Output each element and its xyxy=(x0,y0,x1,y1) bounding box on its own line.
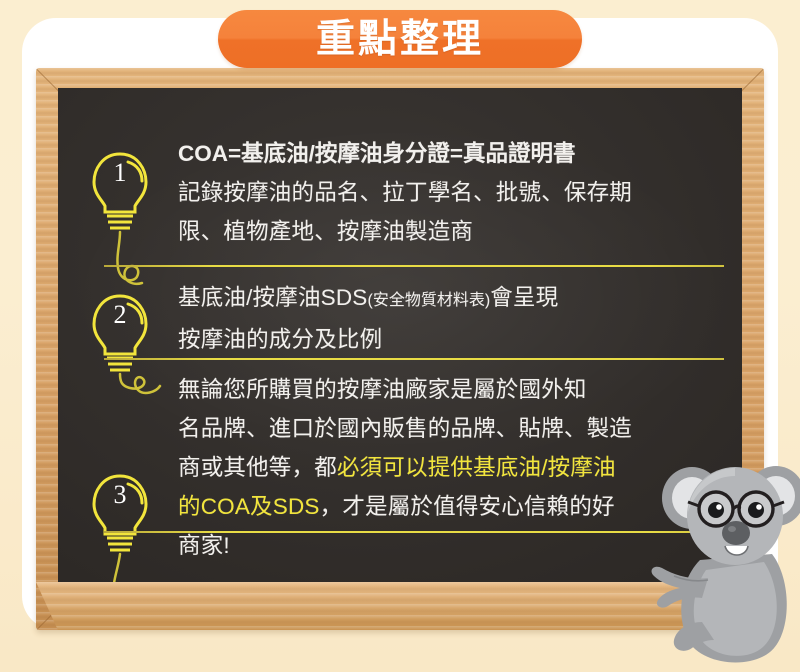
section-divider-1 xyxy=(104,265,724,267)
section-number-3: 3 xyxy=(92,480,148,510)
text-part: 限、植物產地、按摩油製造商 xyxy=(178,219,473,244)
section-2-line-1: 基底油/按摩油SDS(安全物質材料表)會呈現 xyxy=(178,278,723,320)
section-number-2: 2 xyxy=(92,300,148,330)
text-part: 商家! xyxy=(178,533,230,558)
text-part-highlighted: 的COA及SDS xyxy=(178,494,320,519)
section-1-line-2: 記錄按摩油的品名、拉丁學名、批號、保存期 xyxy=(178,173,723,212)
infographic-canvas: 重點整理 1 xyxy=(0,0,800,672)
text-part: 按摩油的成分及比例 xyxy=(178,327,382,352)
section-1-text: COA=基底油/按摩油身分證=真品證明書記錄按摩油的品名、拉丁學名、批號、保存期… xyxy=(178,134,723,251)
text-part: 會呈現 xyxy=(490,285,558,310)
title-banner: 重點整理 xyxy=(218,10,582,68)
section-2-line-2: 按摩油的成分及比例 xyxy=(178,320,723,359)
text-part: ，才是屬於值得安心信賴的好 xyxy=(320,494,615,519)
section-1-line-3: 限、植物產地、按摩油製造商 xyxy=(178,212,723,251)
text-part: 無論您所購買的按摩油廠家是屬於國外知 xyxy=(178,377,587,402)
text-part: 記錄按摩油的品名、拉丁學名、批號、保存期 xyxy=(178,180,632,205)
section-number-1: 1 xyxy=(92,158,148,188)
text-part: 基底油/按摩油SDS xyxy=(178,285,368,310)
text-part: 名品牌、進口於國內販售的品牌、貼牌、製造 xyxy=(178,416,632,441)
text-part: 商或其他等，都 xyxy=(178,455,337,480)
section-divider-2 xyxy=(104,358,724,360)
text-part: (安全物質材料表) xyxy=(368,292,491,309)
text-part: COA=基底油/按摩油身分證=真品證明書 xyxy=(178,141,576,166)
lightbulb-icon-3: 3 xyxy=(92,466,178,588)
section-1-line-1: COA=基底油/按摩油身分證=真品證明書 xyxy=(178,134,723,173)
lightbulb-icon-2: 2 xyxy=(92,286,178,436)
lightbulb-icon-1: 1 xyxy=(92,144,178,294)
section-2-text: 基底油/按摩油SDS(安全物質材料表)會呈現按摩油的成分及比例 xyxy=(178,278,723,359)
section-divider-3 xyxy=(104,531,724,533)
koala-mascot xyxy=(636,440,800,672)
text-part-highlighted: 必須可以提供基底油/按摩油 xyxy=(337,455,616,480)
page-title: 重點整理 xyxy=(316,20,484,59)
section-3-line-1: 無論您所購買的按摩油廠家是屬於國外知 xyxy=(178,370,723,409)
